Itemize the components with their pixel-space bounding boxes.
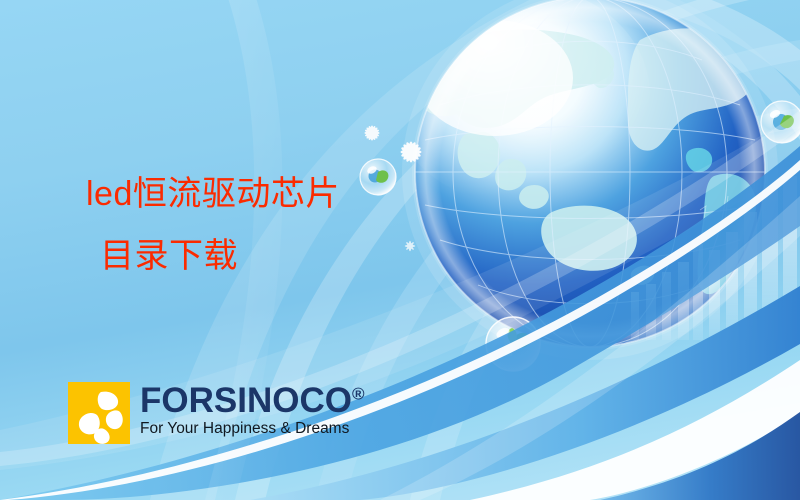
starburst-flower-icon — [400, 141, 421, 162]
banner-image: led恒流驱动芯片 目录下载 FORSINOCO® For Your Happi… — [0, 0, 800, 500]
headline-line-1: led恒流驱动芯片 — [86, 163, 506, 225]
logo-tagline: For Your Happiness & Dreams — [140, 419, 364, 439]
registered-trademark-icon: ® — [352, 384, 365, 403]
company-logo[interactable]: FORSINOCO® For Your Happiness & Dreams — [68, 382, 364, 444]
concentric-rings — [430, 0, 800, 140]
starburst-flower-icon — [364, 125, 379, 140]
headline-line-2: 目录下载 — [86, 225, 506, 287]
logo-name-text: FORSINOCO — [140, 381, 352, 420]
headline-text: led恒流驱动芯片 目录下载 — [86, 163, 506, 287]
logo-company-name: FORSINOCO® — [140, 384, 364, 418]
four-petal-flower-icon — [68, 382, 130, 444]
logo-wordmark: FORSINOCO® For Your Happiness & Dreams — [140, 382, 364, 439]
bubble-with-globe-edge-icon — [761, 101, 800, 143]
city-skyline-silhouette — [631, 176, 797, 340]
bubble-with-sprout-icon — [486, 317, 540, 371]
